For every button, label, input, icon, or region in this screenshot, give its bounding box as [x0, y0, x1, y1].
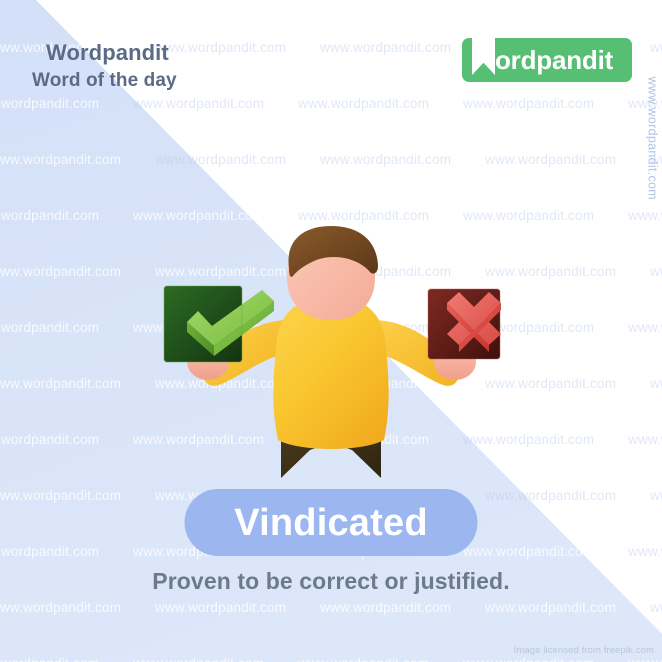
word-of-the-day-pill: Vindicated: [185, 489, 478, 556]
brand-title: Wordpandit: [46, 40, 169, 66]
background-layer: [0, 0, 662, 662]
word-of-the-day-card: www.wordpandit.comwww.wordpandit.comwww.…: [0, 0, 662, 662]
vertical-watermark: www.wordpandit.com: [646, 76, 660, 200]
word-of-the-day-text: Vindicated: [234, 504, 427, 542]
image-credit: Image licensed from freepik.com: [514, 645, 654, 656]
logo-wordmark: ordpandit: [495, 38, 613, 82]
brand-subtitle: Word of the day: [32, 70, 177, 92]
wordpandit-logo[interactable]: ordpandit: [462, 38, 632, 82]
word-definition: Proven to be correct or justified.: [0, 568, 662, 595]
